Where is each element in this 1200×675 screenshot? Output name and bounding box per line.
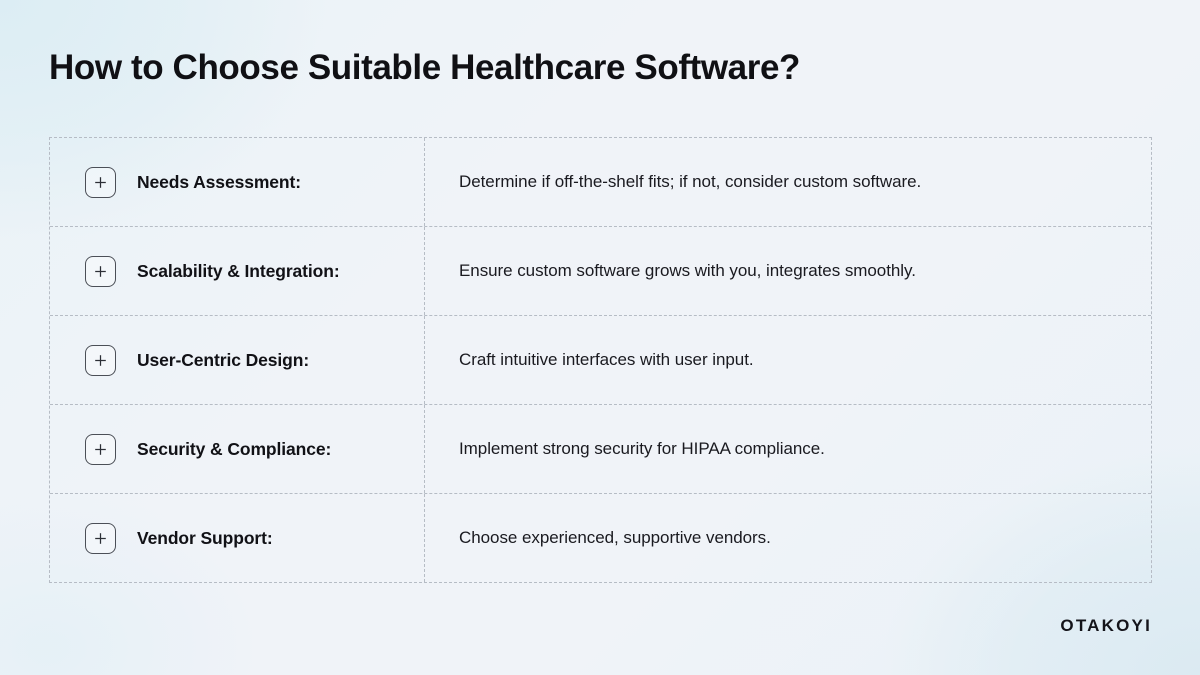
checklist-term-cell: Security & Compliance: <box>50 405 425 493</box>
plus-icon[interactable] <box>85 256 116 287</box>
slide-canvas: How to Choose Suitable Healthcare Softwa… <box>0 0 1200 675</box>
checklist-description-cell: Implement strong security for HIPAA comp… <box>425 405 1151 493</box>
checklist-description-text: Ensure custom software grows with you, i… <box>459 259 916 283</box>
checklist-term-cell: Scalability & Integration: <box>50 227 425 315</box>
checklist-table: Needs Assessment: Determine if off-the-s… <box>49 137 1152 583</box>
plus-icon[interactable] <box>85 523 116 554</box>
checklist-description-text: Implement strong security for HIPAA comp… <box>459 437 825 461</box>
checklist-term-cell: Vendor Support: <box>50 494 425 582</box>
checklist-description-text: Choose experienced, supportive vendors. <box>459 526 771 550</box>
checklist-term-label: Scalability & Integration: <box>137 261 340 282</box>
table-row[interactable]: Needs Assessment: Determine if off-the-s… <box>50 138 1151 227</box>
table-row[interactable]: Scalability & Integration: Ensure custom… <box>50 227 1151 316</box>
brand-logo: OTAKOYI <box>1060 616 1152 636</box>
checklist-term-label: Vendor Support: <box>137 528 273 549</box>
plus-icon[interactable] <box>85 434 116 465</box>
checklist-term-label: User-Centric Design: <box>137 350 309 371</box>
checklist-term-cell: User-Centric Design: <box>50 316 425 404</box>
table-row[interactable]: Vendor Support: Choose experienced, supp… <box>50 494 1151 582</box>
checklist-description-text: Determine if off-the-shelf fits; if not,… <box>459 170 921 194</box>
checklist-description-cell: Determine if off-the-shelf fits; if not,… <box>425 138 1151 226</box>
page-title: How to Choose Suitable Healthcare Softwa… <box>49 46 800 90</box>
checklist-term-cell: Needs Assessment: <box>50 138 425 226</box>
plus-icon[interactable] <box>85 345 116 376</box>
table-row[interactable]: Security & Compliance: Implement strong … <box>50 405 1151 494</box>
checklist-description-cell: Choose experienced, supportive vendors. <box>425 494 1151 582</box>
table-row[interactable]: User-Centric Design: Craft intuitive int… <box>50 316 1151 405</box>
checklist-description-cell: Craft intuitive interfaces with user inp… <box>425 316 1151 404</box>
plus-icon[interactable] <box>85 167 116 198</box>
checklist-term-label: Needs Assessment: <box>137 172 301 193</box>
checklist-description-text: Craft intuitive interfaces with user inp… <box>459 348 754 372</box>
checklist-term-label: Security & Compliance: <box>137 439 331 460</box>
checklist-description-cell: Ensure custom software grows with you, i… <box>425 227 1151 315</box>
